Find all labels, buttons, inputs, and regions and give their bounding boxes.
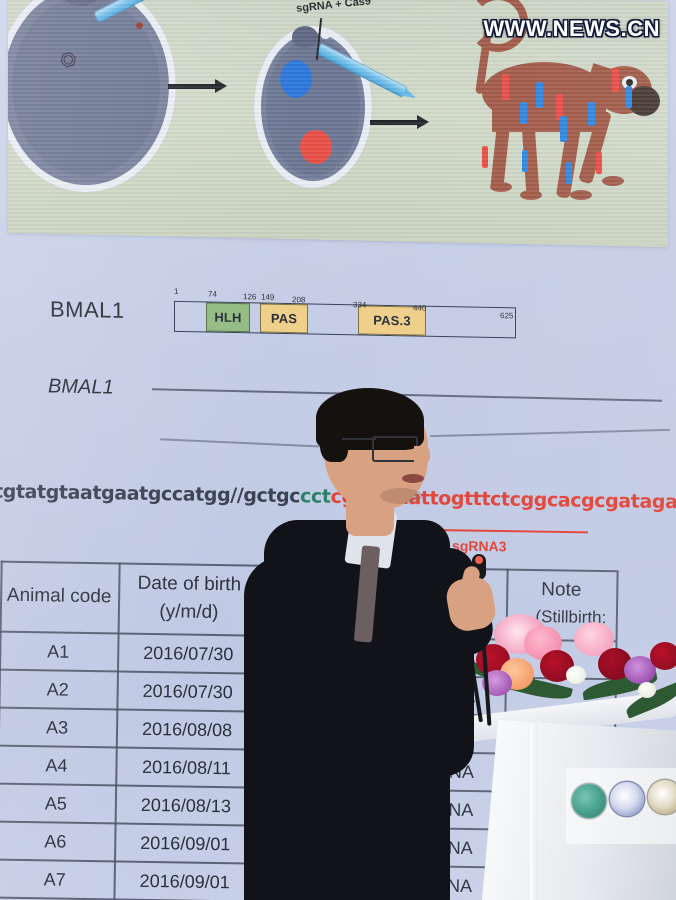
eyeglasses-lens [372,436,418,462]
nose [414,446,430,464]
tick-440: 440 [413,303,426,312]
bmal1-gene-label: BMAL1 [48,375,114,399]
sideburn [320,422,348,462]
podium-logo-2 [610,782,644,816]
screenshot-root: ⏣ sgRNA + Cas9 [0,0,676,900]
header-animal-code: Animal code [0,585,118,609]
workflow-arrow-1 [168,84,216,89]
tick-625: 625 [500,311,513,320]
chin-shadow [380,488,422,504]
cell-code-2: A3 [0,717,116,740]
domain-hlh: HLH [206,302,250,332]
cell-code-5: A6 [0,831,114,854]
podium-logo-1 [572,784,606,818]
domain-pas: PAS [260,304,308,334]
tick-126: 126 [243,292,256,301]
podium-logo-3 [648,780,676,814]
cell-code-1: A2 [0,679,117,702]
domain-pas3-label: PAS.3 [373,313,411,329]
cell-code-3: A4 [0,755,116,778]
speaker-person [262,388,512,900]
pipette-content-dot-1 [136,22,143,29]
rose-red-4 [650,642,676,670]
header-date-of-birth-line1: Date of birth [118,572,260,596]
tick-334: 334 [353,300,366,309]
polar-body-3 [320,28,331,39]
cell-dob-3: 2016/08/11 [115,756,257,779]
polar-body-2 [292,26,318,48]
cell-dob-4: 2016/08/13 [115,794,257,817]
tick-74: 74 [208,290,217,299]
sgrna-cas9-label: sgRNA + Cas9 [296,0,372,15]
header-note-line1: Note [506,579,616,603]
podium-front-edge [530,724,538,900]
header-date-of-birth-line2: (y/m/d) [118,600,260,624]
cell-dob-0: 2016/07/30 [117,642,259,665]
cell-dob-2: 2016/08/08 [116,718,258,741]
tick-1: 1 [174,287,178,296]
tick-208: 208 [292,295,305,304]
cell-dob-6: 2016/09/01 [114,870,256,893]
cell-dob-1: 2016/07/30 [117,680,259,703]
news-watermark: WWW.NEWS.CN [483,16,660,42]
domain-pas-label: PAS [271,311,297,327]
workflow-arrow-2 [370,120,418,125]
mouth [402,474,424,483]
cell-code-6: A7 [0,869,114,892]
domain-hlh-label: HLH [214,310,241,326]
sequence-segment-dark-1: tgtatgtaatgaatgccatgg//gctgc [0,481,300,508]
cell-code-0: A1 [0,641,117,664]
eyeglasses-temple [342,438,376,440]
female-pronucleus [300,130,332,164]
white-bud-2 [638,682,656,698]
male-pronucleus [280,60,312,98]
oocyte-stage-1 [8,0,176,192]
tick-149: 149 [261,293,274,302]
cell-dob-5: 2016/09/01 [114,832,256,855]
white-bud [566,666,586,684]
bmal1-protein-label: BMAL1 [50,296,125,323]
cell-code-4: A5 [0,793,115,816]
suit-shoulder-left [244,556,334,900]
